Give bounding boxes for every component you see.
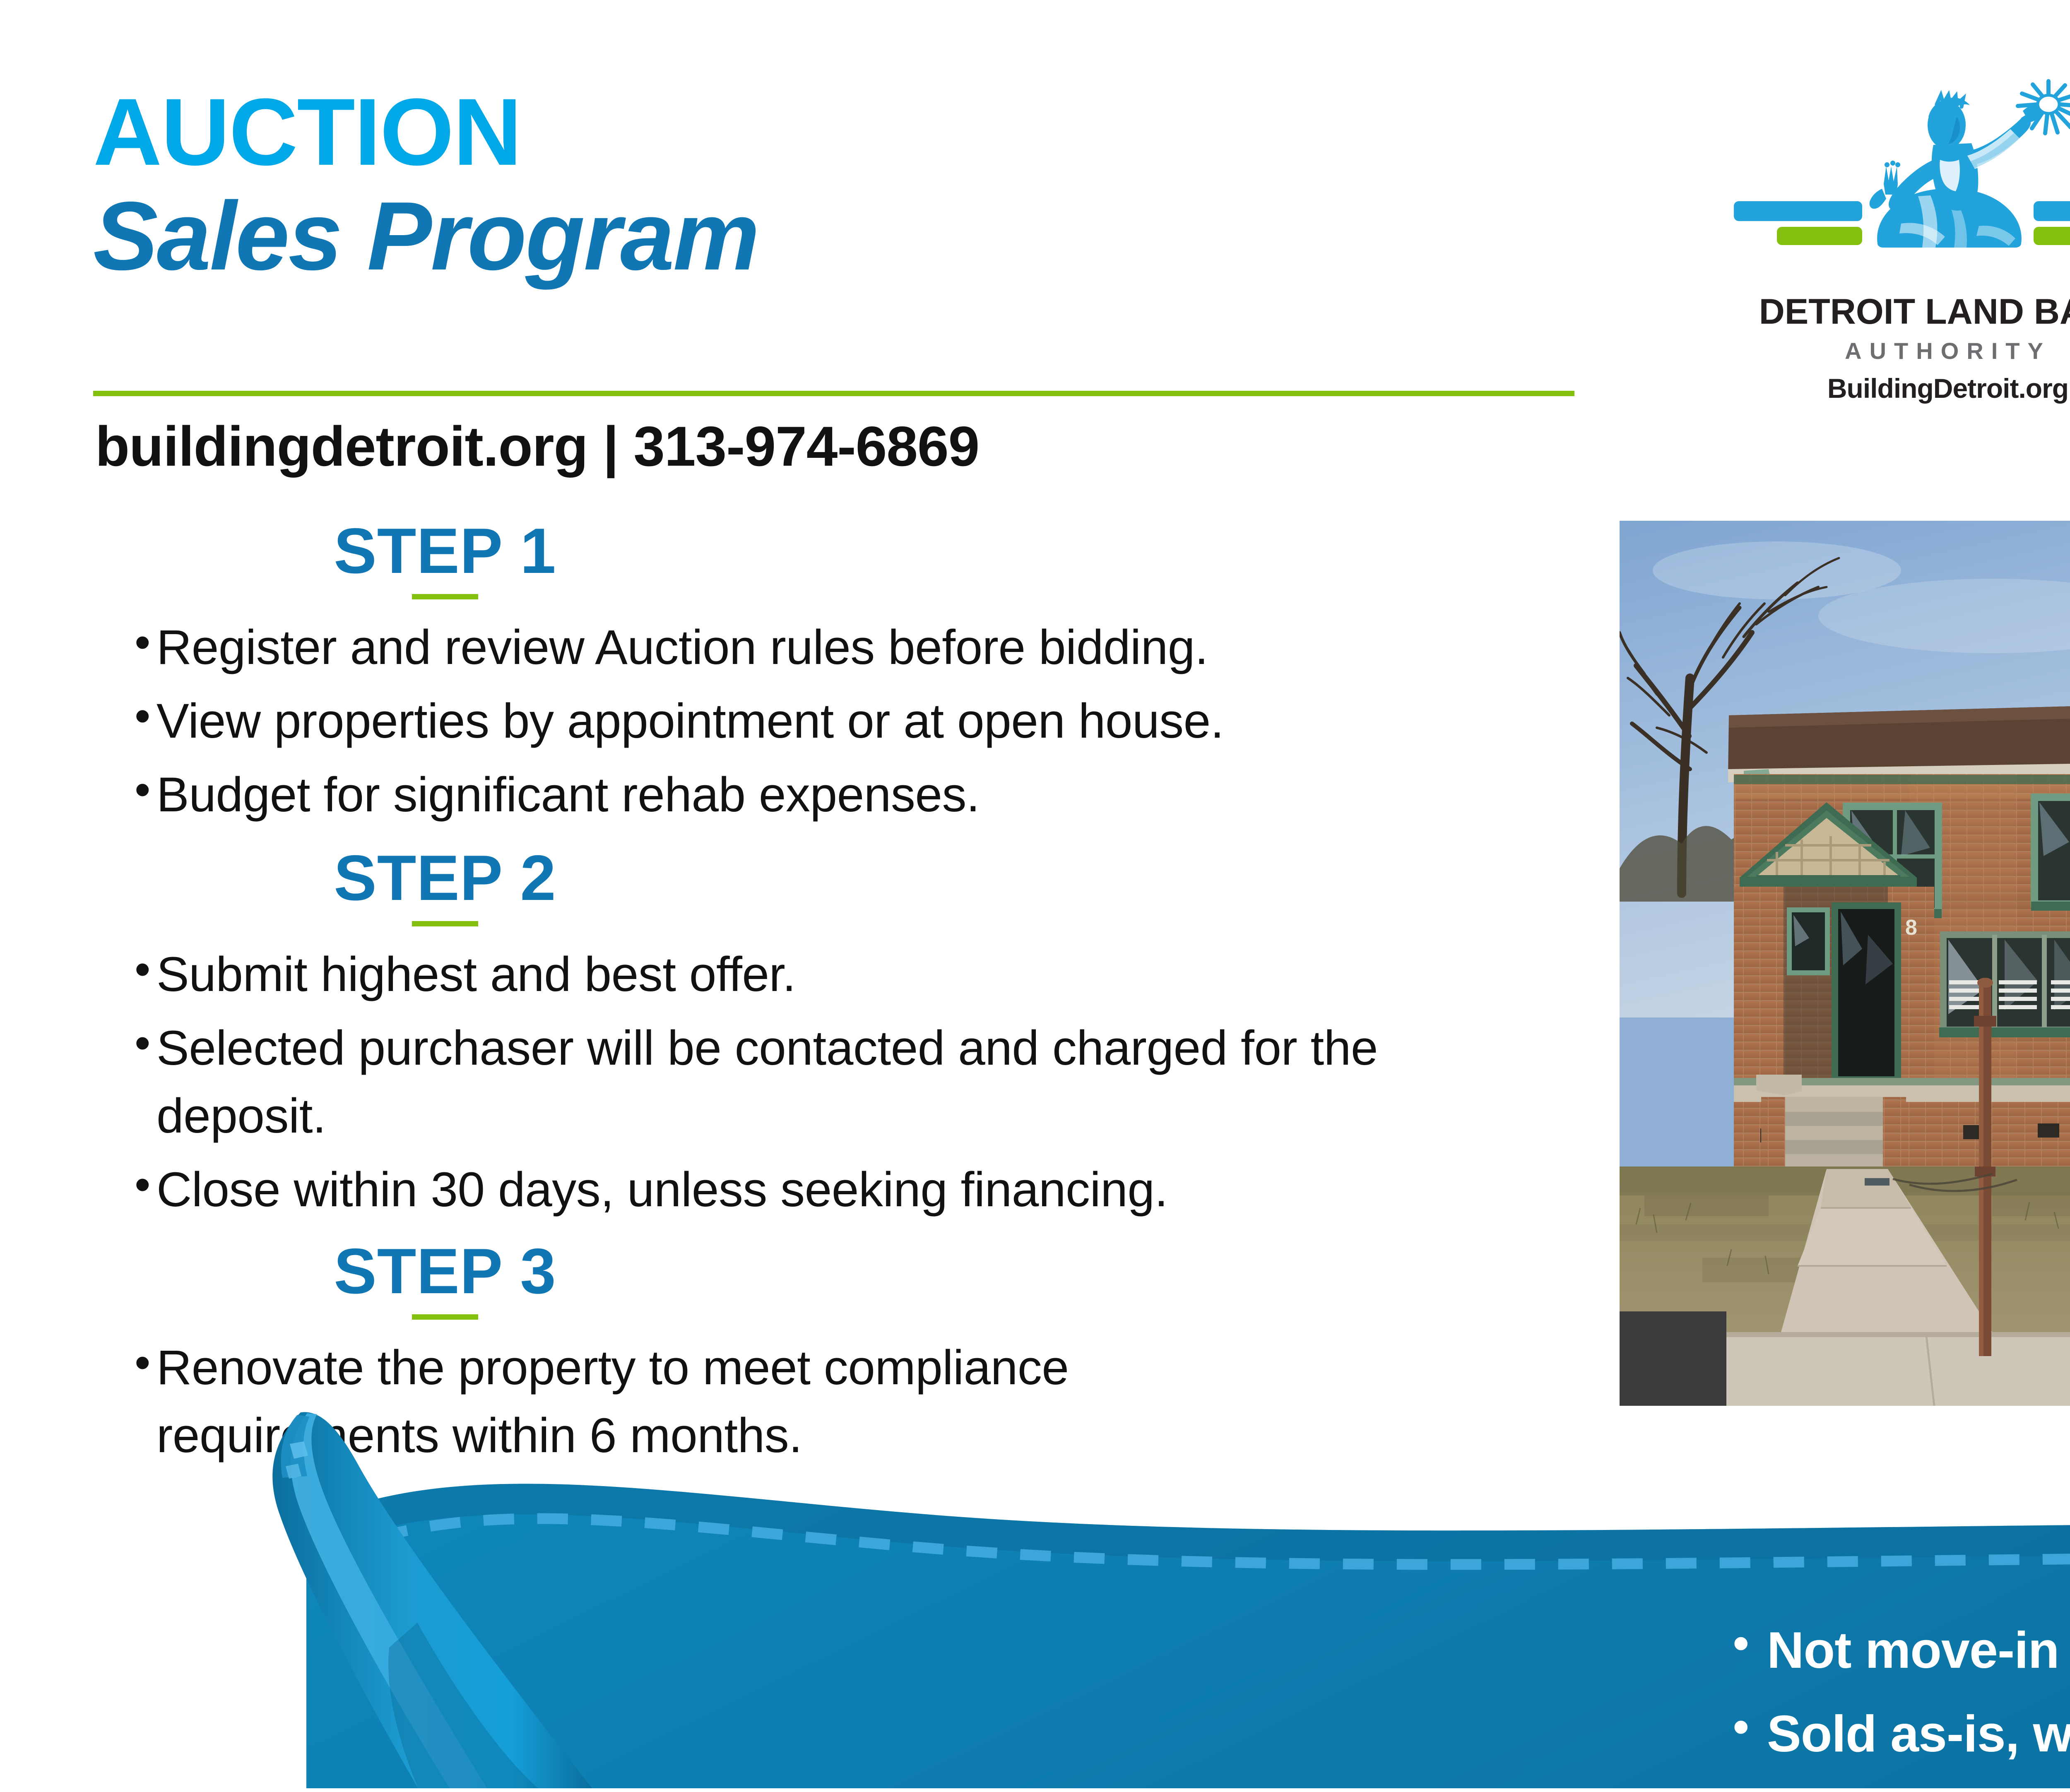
detroit-land-bank-logo: DETROIT LAND BANK AUTHORITY BuildingDetr…	[1689, 79, 2070, 404]
step-title: STEP 2	[334, 844, 556, 912]
list-item: Budget for significant rehab expenses.	[95, 761, 1569, 829]
step-bullet-list-3: Renovate the property to meet compliance…	[95, 1334, 1569, 1470]
list-item: Register and review Auction rules before…	[95, 613, 1569, 681]
spirit-of-detroit-figure-icon	[1689, 79, 2070, 286]
logo-url[interactable]: BuildingDetroit.org	[1689, 373, 2070, 404]
step-underline	[412, 1314, 478, 1320]
list-item: Selected purchaser will be contacted and…	[95, 1014, 1398, 1150]
step-header-2: STEP 2	[95, 844, 1569, 926]
step-bullet-list-1: Register and review Auction rules before…	[95, 613, 1569, 829]
svg-text:8: 8	[1905, 916, 1917, 940]
step-title: STEP 1	[334, 517, 556, 585]
contact-line[interactable]: buildingdetroit.org | 313-974-6869	[95, 414, 979, 479]
step-underline	[412, 594, 478, 599]
step-underline	[412, 921, 478, 926]
page-title-secondary: Sales Program	[93, 185, 1584, 287]
step-header-1: STEP 1	[95, 517, 1569, 599]
list-item: Sold as-is, where-is	[1718, 1708, 2070, 1760]
banner-bullet-list: Not move-in ready Sold as-is, where-is	[1718, 1625, 2070, 1792]
property-photo: 8	[1620, 521, 2070, 1406]
logo-subtitle: AUTHORITY	[1689, 337, 2070, 364]
list-item: Submit highest and best offer.	[95, 940, 1569, 1008]
title-divider-rule	[93, 391, 1574, 396]
step-title: STEP 3	[334, 1238, 556, 1305]
step-block-1: STEP 1 Register and review Auction rules…	[95, 517, 1569, 835]
step-bullet-list-2: Submit highest and best offer. Selected …	[95, 940, 1569, 1224]
list-item: View properties by appointment or at ope…	[95, 687, 1569, 755]
step-block-2: STEP 2 Submit highest and best offer. Se…	[95, 844, 1569, 1229]
logo-name: DETROIT LAND BANK	[1689, 291, 2070, 332]
list-item: Renovate the property to meet compliance…	[95, 1334, 1266, 1470]
step-header-3: STEP 3	[95, 1238, 1569, 1320]
list-item: Not move-in ready	[1718, 1625, 2070, 1676]
step-block-3: STEP 3 Renovate the property to meet com…	[95, 1238, 1569, 1475]
page-title-primary: AUCTION	[93, 87, 1584, 178]
list-item: Close within 30 days, unless seeking fin…	[95, 1156, 1569, 1224]
page-title-block: AUCTION Sales Program	[93, 87, 1584, 287]
